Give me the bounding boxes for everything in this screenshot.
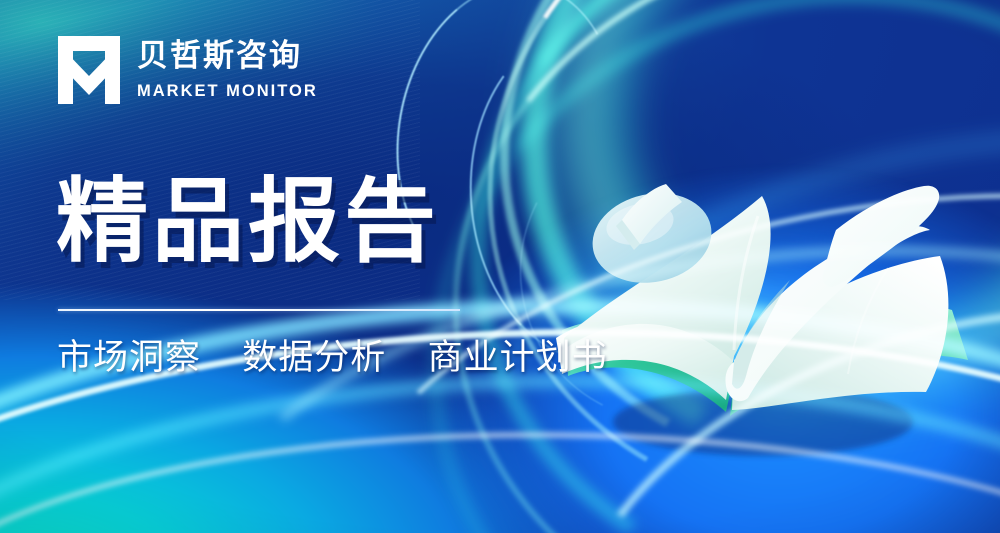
brand-text: 贝哲斯咨询 MARKET MONITOR — [137, 41, 318, 100]
brand-logo[interactable]: 贝哲斯咨询 MARKET MONITOR — [58, 36, 318, 104]
brand-name-cn: 贝哲斯咨询 — [137, 41, 318, 72]
market-monitor-m-monogram-icon — [58, 36, 120, 104]
headline-divider — [58, 309, 460, 311]
subtitle-item-0: 市场洞察 — [57, 338, 201, 378]
subtitle-item-2: 商业计划书 — [428, 338, 608, 378]
subtitle-item-1: 数据分析 — [242, 338, 386, 378]
brand-name-en: MARKET MONITOR — [137, 83, 318, 100]
report-banner: 贝哲斯咨询 MARKET MONITOR 精品报告 市场洞察 数据分析 商业计划… — [0, 0, 1000, 533]
headline-title: 精品报告 — [56, 176, 440, 268]
subtitle-line: 市场洞察 数据分析 商业计划书 — [57, 336, 608, 381]
